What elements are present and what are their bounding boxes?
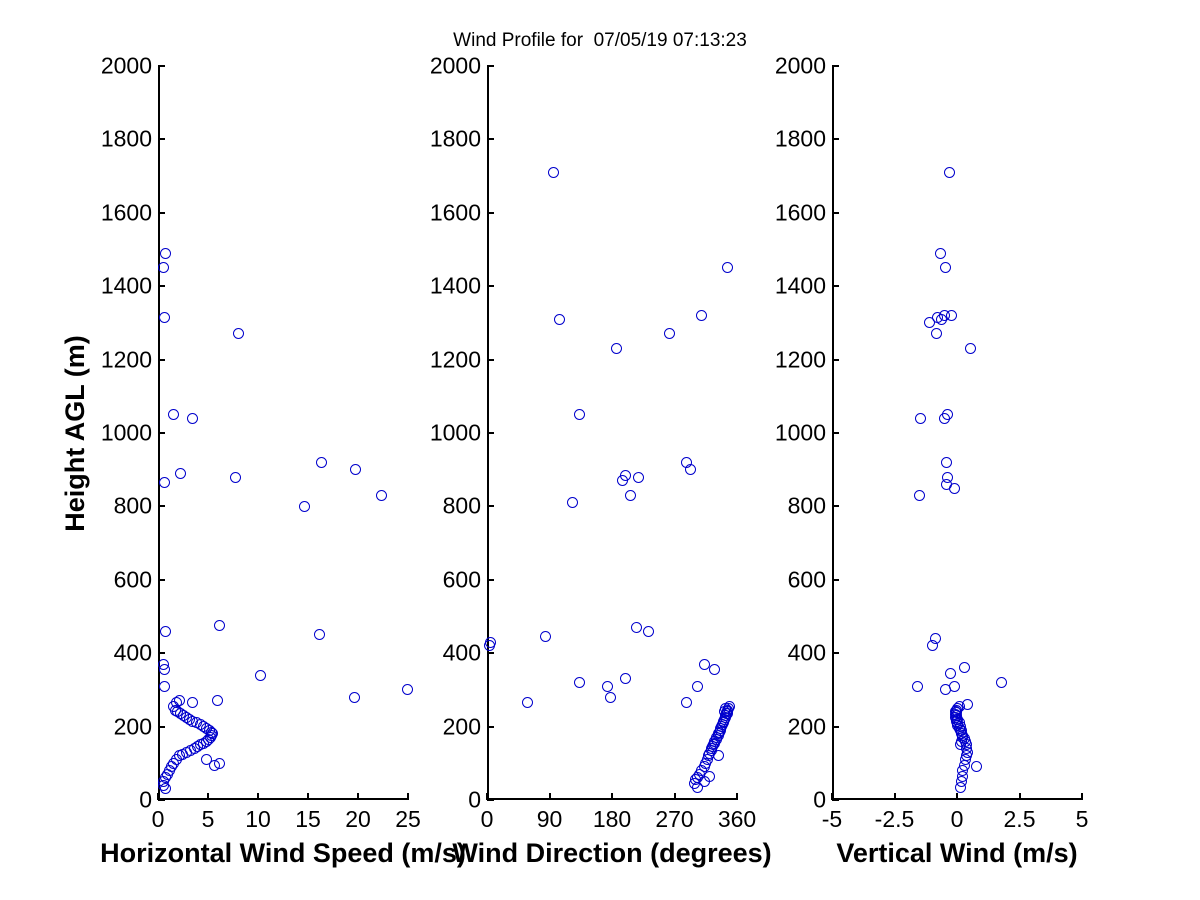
y-axis-tick bbox=[832, 726, 839, 728]
y-axis-tick bbox=[158, 359, 165, 361]
y-axis-tick-label: 600 bbox=[742, 566, 826, 593]
x-axis-tick bbox=[894, 793, 896, 800]
y-axis-tick-label: 2000 bbox=[68, 53, 152, 80]
y-axis-tick bbox=[158, 432, 165, 434]
data-point-marker bbox=[915, 413, 926, 424]
wind-profile-figure: Wind Profile for 07/05/19 07:13:23 Heigh… bbox=[0, 0, 1200, 900]
y-axis-tick bbox=[158, 212, 165, 214]
data-point-marker bbox=[540, 631, 551, 642]
data-point-marker bbox=[696, 310, 707, 321]
data-point-marker bbox=[959, 662, 970, 673]
x-axis-tick bbox=[549, 793, 551, 800]
data-point-marker bbox=[350, 464, 361, 475]
data-point-marker bbox=[187, 413, 198, 424]
x-axis-tick-label: 270 bbox=[655, 806, 693, 833]
data-point-marker bbox=[485, 637, 496, 648]
y-axis-tick-label: 1400 bbox=[397, 273, 481, 300]
data-point-marker bbox=[946, 310, 957, 321]
x-axis-label: Horizontal Wind Speed (m/s) bbox=[100, 838, 466, 869]
y-axis-tick-label: 400 bbox=[742, 640, 826, 667]
y-axis-tick bbox=[158, 652, 165, 654]
y-axis-tick bbox=[832, 579, 839, 581]
data-point-marker bbox=[965, 343, 976, 354]
y-axis-tick bbox=[487, 138, 494, 140]
data-point-marker bbox=[912, 681, 923, 692]
y-axis-tick-label: 1800 bbox=[742, 126, 826, 153]
y-axis-tick bbox=[832, 652, 839, 654]
y-axis-tick-label: 800 bbox=[397, 493, 481, 520]
data-point-marker bbox=[942, 472, 953, 483]
y-axis-tick-label: 0 bbox=[68, 787, 152, 814]
x-axis-tick bbox=[257, 793, 259, 800]
y-axis-tick-label: 0 bbox=[742, 787, 826, 814]
x-axis-tick bbox=[736, 793, 738, 800]
y-axis-tick bbox=[487, 505, 494, 507]
x-axis-tick bbox=[207, 793, 209, 800]
data-point-marker bbox=[631, 622, 642, 633]
x-axis-tick-label: 10 bbox=[245, 806, 271, 833]
y-axis-tick-label: 800 bbox=[68, 493, 152, 520]
data-point-marker bbox=[944, 167, 955, 178]
y-axis-tick-label: 1400 bbox=[742, 273, 826, 300]
data-point-marker bbox=[611, 343, 622, 354]
y-axis-tick bbox=[487, 65, 494, 67]
x-axis-tick-label: 0 bbox=[481, 806, 494, 833]
y-axis-tick-label: 1200 bbox=[742, 346, 826, 373]
data-point-marker bbox=[617, 475, 628, 486]
data-point-marker bbox=[230, 472, 241, 483]
data-point-marker bbox=[548, 167, 559, 178]
y-axis-tick bbox=[832, 505, 839, 507]
y-axis-tick-label: 1600 bbox=[397, 199, 481, 226]
data-point-marker bbox=[620, 673, 631, 684]
x-axis-tick bbox=[1081, 793, 1083, 800]
data-point-marker bbox=[522, 697, 533, 708]
y-axis-tick bbox=[832, 285, 839, 287]
data-point-marker bbox=[709, 664, 720, 675]
y-axis-tick-label: 0 bbox=[397, 787, 481, 814]
x-axis-tick bbox=[307, 793, 309, 800]
data-point-marker bbox=[158, 659, 169, 670]
data-point-marker bbox=[704, 771, 715, 782]
data-point-marker bbox=[971, 761, 982, 772]
y-axis-tick-label: 600 bbox=[68, 566, 152, 593]
data-point-marker bbox=[567, 497, 578, 508]
x-axis-tick-label: 0 bbox=[152, 806, 165, 833]
y-axis-tick-label: 1600 bbox=[742, 199, 826, 226]
y-axis-tick bbox=[832, 799, 839, 801]
y-axis-tick-label: 1000 bbox=[397, 420, 481, 447]
data-point-marker bbox=[722, 262, 733, 273]
y-axis-tick bbox=[487, 579, 494, 581]
data-point-marker bbox=[935, 248, 946, 259]
data-point-marker bbox=[201, 754, 212, 765]
y-axis-tick-label: 200 bbox=[397, 713, 481, 740]
data-point-marker bbox=[376, 490, 387, 501]
y-axis-tick bbox=[487, 359, 494, 361]
y-axis-tick bbox=[832, 212, 839, 214]
data-point-marker bbox=[554, 314, 565, 325]
axes-horizontal-wind-speed bbox=[158, 66, 408, 800]
x-axis-tick-label: 0 bbox=[951, 806, 964, 833]
data-point-marker bbox=[158, 262, 169, 273]
data-point-marker bbox=[349, 692, 360, 703]
data-point-marker bbox=[914, 490, 925, 501]
data-point-marker bbox=[159, 477, 170, 488]
data-point-marker bbox=[174, 695, 185, 706]
x-axis-tick-label: 5 bbox=[1076, 806, 1089, 833]
data-point-marker bbox=[625, 490, 636, 501]
data-point-marker bbox=[940, 262, 951, 273]
figure-title: Wind Profile for 07/05/19 07:13:23 bbox=[0, 30, 1200, 52]
x-axis-tick-label: 90 bbox=[537, 806, 563, 833]
x-axis-tick-label: -2.5 bbox=[875, 806, 915, 833]
y-axis-tick-label: 2000 bbox=[742, 53, 826, 80]
y-axis-tick bbox=[158, 726, 165, 728]
y-axis-tick-label: 2000 bbox=[397, 53, 481, 80]
y-axis-tick bbox=[158, 138, 165, 140]
y-axis-tick bbox=[158, 505, 165, 507]
y-axis-tick-label: 1800 bbox=[68, 126, 152, 153]
x-axis-tick-label: 2.5 bbox=[1004, 806, 1036, 833]
data-point-marker bbox=[949, 681, 960, 692]
data-point-marker bbox=[930, 633, 941, 644]
data-point-marker bbox=[212, 695, 223, 706]
y-axis-tick-label: 800 bbox=[742, 493, 826, 520]
y-axis-tick-label: 1600 bbox=[68, 199, 152, 226]
data-point-marker bbox=[602, 681, 613, 692]
y-axis-tick bbox=[487, 726, 494, 728]
data-point-marker bbox=[643, 626, 654, 637]
data-point-marker bbox=[233, 328, 244, 339]
data-point-marker bbox=[681, 697, 692, 708]
y-axis-tick-label: 1200 bbox=[397, 346, 481, 373]
data-point-marker bbox=[159, 681, 170, 692]
data-point-marker bbox=[941, 457, 952, 468]
data-point-marker bbox=[255, 670, 266, 681]
data-point-marker bbox=[574, 677, 585, 688]
y-axis-tick bbox=[832, 359, 839, 361]
y-axis-tick bbox=[487, 285, 494, 287]
axes-vertical-wind bbox=[832, 66, 1082, 800]
data-point-marker bbox=[713, 750, 724, 761]
y-axis-tick-label: 200 bbox=[742, 713, 826, 740]
x-axis-tick-label: 180 bbox=[593, 806, 631, 833]
data-point-marker bbox=[692, 681, 703, 692]
x-axis-tick-label: 5 bbox=[202, 806, 215, 833]
data-point-marker bbox=[187, 697, 198, 708]
y-axis-tick bbox=[158, 285, 165, 287]
x-axis-label: Vertical Wind (m/s) bbox=[836, 838, 1077, 869]
x-axis-tick-label: 15 bbox=[295, 806, 321, 833]
x-axis-tick bbox=[956, 793, 958, 800]
data-point-marker bbox=[160, 626, 171, 637]
data-point-marker bbox=[214, 620, 225, 631]
y-axis-tick bbox=[158, 799, 165, 801]
y-axis-tick-label: 600 bbox=[397, 566, 481, 593]
x-axis-tick bbox=[674, 793, 676, 800]
y-axis-tick-label: 200 bbox=[68, 713, 152, 740]
y-axis-tick-label: 1000 bbox=[742, 420, 826, 447]
x-axis-tick-label: 20 bbox=[345, 806, 371, 833]
y-axis-tick bbox=[487, 212, 494, 214]
data-point-marker bbox=[168, 409, 179, 420]
data-point-marker bbox=[299, 501, 310, 512]
y-axis-tick-label: 400 bbox=[397, 640, 481, 667]
x-axis-label: Wind Direction (degrees) bbox=[452, 838, 771, 869]
axes-wind-direction bbox=[487, 66, 737, 800]
data-point-marker bbox=[664, 328, 675, 339]
x-axis-tick bbox=[611, 793, 613, 800]
data-point-marker bbox=[314, 629, 325, 640]
data-point-marker bbox=[945, 668, 956, 679]
data-point-marker bbox=[402, 684, 413, 695]
data-point-marker bbox=[159, 312, 170, 323]
y-axis-tick bbox=[832, 138, 839, 140]
y-axis-tick-label: 1400 bbox=[68, 273, 152, 300]
y-axis-tick-label: 1800 bbox=[397, 126, 481, 153]
data-point-marker bbox=[316, 457, 327, 468]
data-point-marker bbox=[931, 328, 942, 339]
data-point-marker bbox=[949, 483, 960, 494]
data-point-marker bbox=[160, 248, 171, 259]
data-point-marker bbox=[633, 472, 644, 483]
y-axis-tick bbox=[158, 65, 165, 67]
y-axis-tick-label: 1200 bbox=[68, 346, 152, 373]
y-axis-tick-label: 400 bbox=[68, 640, 152, 667]
plot-area-wind-direction bbox=[489, 66, 737, 798]
data-point-marker bbox=[175, 468, 186, 479]
y-axis-tick bbox=[487, 799, 494, 801]
y-axis-tick bbox=[487, 652, 494, 654]
plot-area-vertical-wind bbox=[834, 66, 1082, 798]
y-axis-tick bbox=[832, 65, 839, 67]
data-point-marker bbox=[605, 692, 616, 703]
data-point-marker bbox=[962, 699, 973, 710]
y-axis-tick bbox=[832, 432, 839, 434]
data-point-marker bbox=[942, 409, 953, 420]
data-point-marker bbox=[214, 758, 225, 769]
data-point-marker bbox=[574, 409, 585, 420]
y-axis-tick bbox=[487, 432, 494, 434]
x-axis-tick bbox=[357, 793, 359, 800]
y-axis-tick-label: 1000 bbox=[68, 420, 152, 447]
data-point-marker bbox=[722, 708, 733, 719]
x-axis-tick bbox=[1019, 793, 1021, 800]
plot-area-horizontal-wind-speed bbox=[160, 66, 408, 798]
y-axis-tick bbox=[158, 579, 165, 581]
data-point-marker bbox=[996, 677, 1007, 688]
